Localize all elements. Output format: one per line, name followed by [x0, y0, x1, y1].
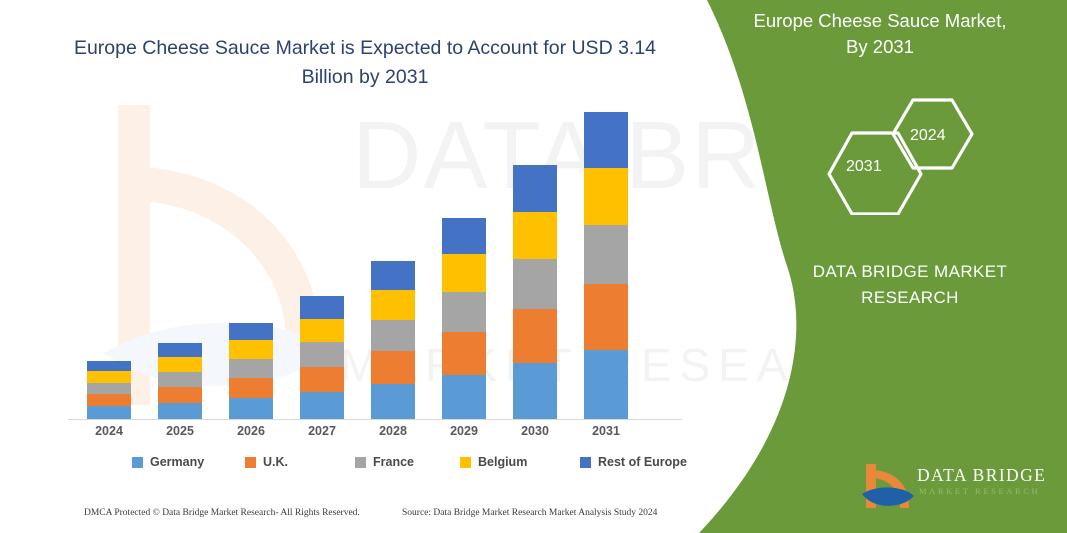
bar-2028	[371, 261, 415, 419]
panel-title-line2: By 2031	[730, 34, 1030, 60]
x-tick-2031: 2031	[571, 424, 641, 438]
page-title: Europe Cheese Sauce Market is Expected t…	[60, 34, 670, 92]
bar-segment-belgium	[87, 371, 131, 382]
bar-segment-belgium	[229, 340, 273, 358]
bar-segment-rest-of-europe	[158, 343, 202, 357]
legend-item-rest-of-europe[interactable]: Rest of Europe	[580, 455, 687, 469]
footer-copyright: DMCA Protected © Data Bridge Market Rese…	[84, 508, 360, 518]
bar-segment-germany	[87, 406, 131, 419]
legend-label: Belgium	[478, 455, 527, 469]
infographic-canvas: DATA BRIDGE MARKET RESEARCH Europe Chees…	[0, 0, 1067, 533]
stacked-bar-chart	[60, 100, 700, 420]
x-tick-2026: 2026	[216, 424, 286, 438]
x-tick-2024: 2024	[74, 424, 144, 438]
bar-segment-u-k-	[442, 332, 486, 375]
panel-brand-name: DATA BRIDGE MARKET RESEARCH	[790, 259, 1030, 311]
x-tick-2027: 2027	[287, 424, 357, 438]
chart-x-axis: 20242025202620272028202920302031	[60, 424, 700, 446]
hexagon-badges: 2031 2024	[826, 95, 986, 215]
x-tick-2025: 2025	[145, 424, 215, 438]
bar-segment-u-k-	[371, 351, 415, 384]
data-bridge-logo-icon	[862, 462, 914, 512]
legend-label: France	[373, 455, 414, 469]
bar-segment-germany	[158, 403, 202, 419]
bar-segment-belgium	[442, 254, 486, 292]
bar-2026	[229, 323, 273, 419]
bar-segment-france	[584, 225, 628, 284]
bar-segment-germany	[371, 384, 415, 419]
bar-segment-rest-of-europe	[442, 218, 486, 254]
bar-segment-germany	[584, 350, 628, 419]
chart-baseline	[68, 419, 682, 420]
bar-2029	[442, 218, 486, 419]
legend-item-france[interactable]: France	[355, 455, 414, 469]
bar-segment-france	[158, 372, 202, 387]
bar-segment-u-k-	[513, 309, 557, 363]
logo-tagline-text: MARKET RESEARCH	[919, 486, 1040, 496]
bar-segment-rest-of-europe	[584, 112, 628, 168]
bar-segment-france	[300, 342, 344, 366]
legend-label: Rest of Europe	[598, 455, 687, 469]
bar-segment-france	[371, 320, 415, 351]
bar-segment-rest-of-europe	[87, 361, 131, 372]
legend-item-u-k-[interactable]: U.K.	[245, 455, 288, 469]
bar-segment-rest-of-europe	[371, 261, 415, 290]
legend-label: Germany	[150, 455, 204, 469]
legend-item-belgium[interactable]: Belgium	[460, 455, 527, 469]
bar-segment-belgium	[584, 168, 628, 225]
bar-segment-germany	[513, 363, 557, 419]
legend-swatch-icon	[245, 457, 256, 468]
bar-segment-france	[442, 292, 486, 332]
hex-label-2024: 2024	[910, 127, 946, 145]
legend-swatch-icon	[355, 457, 366, 468]
bar-2024	[87, 361, 131, 419]
logo-brand-text: DATA BRIDGE	[917, 465, 1046, 486]
bar-segment-rest-of-europe	[513, 165, 557, 211]
legend-item-germany[interactable]: Germany	[132, 455, 204, 469]
footer-source: Source: Data Bridge Market Research Mark…	[402, 508, 657, 518]
bar-segment-germany	[229, 398, 273, 419]
panel-brand-line2: RESEARCH	[861, 288, 959, 307]
company-logo[interactable]: DATA BRIDGE MARKET RESEARCH	[862, 462, 1042, 514]
bar-segment-belgium	[371, 290, 415, 320]
legend-swatch-icon	[460, 457, 471, 468]
bar-segment-rest-of-europe	[300, 296, 344, 318]
bar-segment-belgium	[513, 212, 557, 260]
chart-plot-area	[60, 100, 700, 420]
legend-swatch-icon	[580, 457, 591, 468]
panel-title-line1: Europe Cheese Sauce Market,	[754, 10, 1007, 31]
hexagon-outline-icon	[826, 95, 986, 215]
hex-label-2031: 2031	[846, 158, 882, 176]
bar-segment-france	[87, 383, 131, 395]
bar-segment-rest-of-europe	[229, 323, 273, 341]
legend-swatch-icon	[132, 457, 143, 468]
bar-segment-france	[513, 259, 557, 309]
bar-2030	[513, 165, 557, 419]
bar-segment-u-k-	[229, 378, 273, 398]
bar-2031	[584, 112, 628, 419]
panel-brand-line1: DATA BRIDGE MARKET	[813, 262, 1008, 281]
x-tick-2028: 2028	[358, 424, 428, 438]
bar-segment-belgium	[300, 319, 344, 342]
bar-2027	[300, 296, 344, 419]
legend-label: U.K.	[263, 455, 288, 469]
x-tick-2029: 2029	[429, 424, 499, 438]
bar-segment-u-k-	[158, 387, 202, 403]
bar-segment-france	[229, 359, 273, 378]
bar-segment-u-k-	[87, 394, 131, 406]
x-tick-2030: 2030	[500, 424, 570, 438]
bar-segment-germany	[442, 375, 486, 419]
chart-legend: GermanyU.K.FranceBelgiumRest of Europe	[60, 455, 700, 477]
bar-2025	[158, 343, 202, 419]
bar-segment-u-k-	[300, 367, 344, 393]
footer: DMCA Protected © Data Bridge Market Rese…	[0, 506, 700, 526]
bar-segment-germany	[300, 392, 344, 419]
bar-segment-u-k-	[584, 284, 628, 349]
panel-title: Europe Cheese Sauce Market, By 2031	[730, 8, 1030, 60]
bar-segment-belgium	[158, 357, 202, 372]
